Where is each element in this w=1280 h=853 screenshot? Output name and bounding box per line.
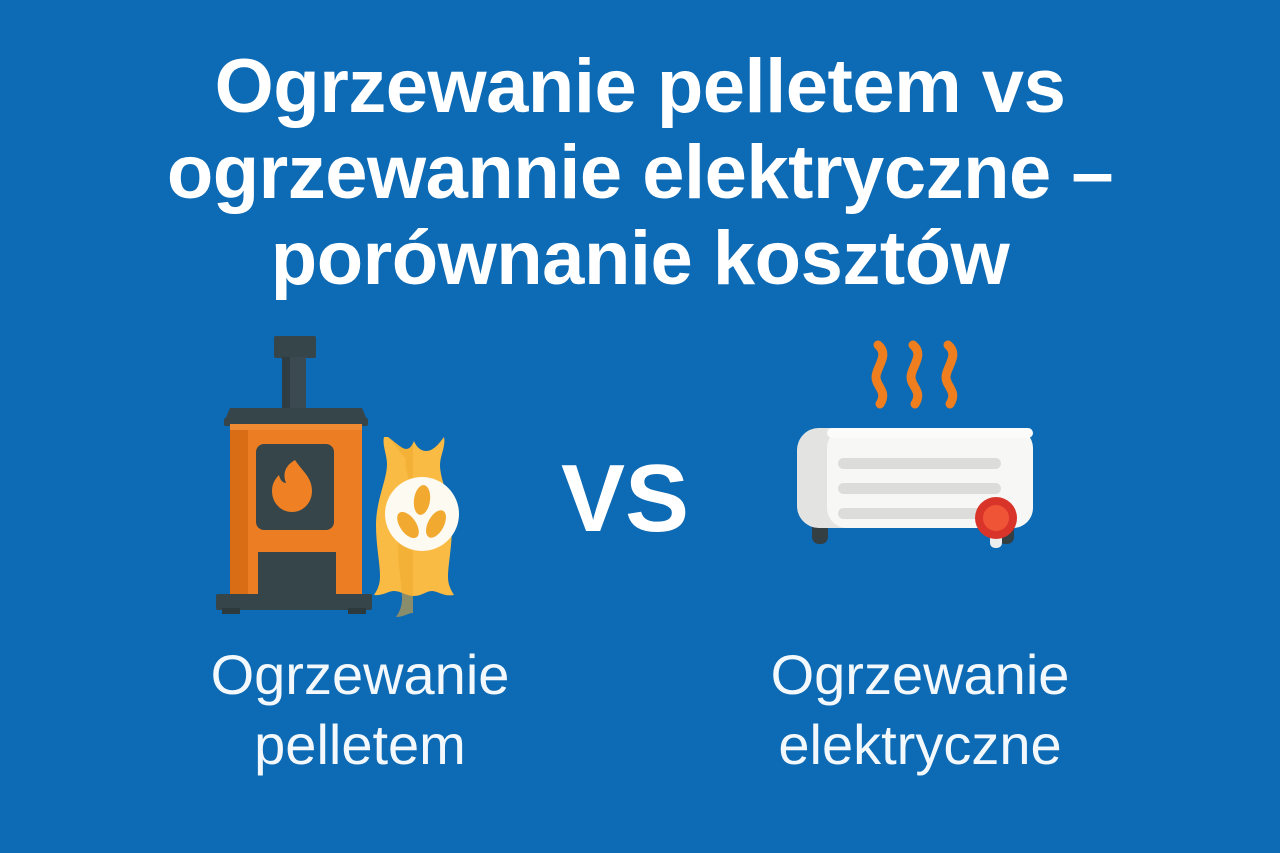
pellet-stove-illustration bbox=[200, 330, 520, 630]
chimney-cap-icon bbox=[274, 336, 316, 358]
title-line-3: porównanie kosztów bbox=[0, 216, 1280, 302]
electric-heater-illustration bbox=[770, 330, 1060, 620]
title-line-2: ogrzewannie elektryczne – bbox=[0, 130, 1280, 216]
heater-vent-line bbox=[838, 458, 1001, 469]
title-line-1: Ogrzewanie pelletem vs bbox=[0, 44, 1280, 130]
caption-electric-line-1: Ogrzewanie bbox=[670, 640, 1170, 710]
stove-ash-drawer-icon bbox=[258, 552, 336, 596]
heat-wave-icon bbox=[911, 345, 918, 404]
heat-wave-icon bbox=[876, 345, 883, 404]
vs-label: VS bbox=[545, 447, 705, 551]
poster-canvas: Ogrzewanie pelletem vs ogrzewannie elekt… bbox=[0, 0, 1280, 853]
caption-electric: Ogrzewanie elektryczne bbox=[670, 640, 1170, 780]
heater-vent-line bbox=[838, 483, 1001, 494]
caption-pellet-line-2: pelletem bbox=[110, 710, 610, 780]
heater-knob-inner bbox=[983, 505, 1009, 531]
caption-pellet: Ogrzewanie pelletem bbox=[110, 640, 610, 780]
stove-base-plate-icon bbox=[216, 594, 372, 610]
page-title: Ogrzewanie pelletem vs ogrzewannie elekt… bbox=[0, 44, 1280, 302]
caption-pellet-line-1: Ogrzewanie bbox=[110, 640, 610, 710]
heat-wave-icon bbox=[946, 345, 953, 404]
caption-electric-line-2: elektryczne bbox=[670, 710, 1170, 780]
